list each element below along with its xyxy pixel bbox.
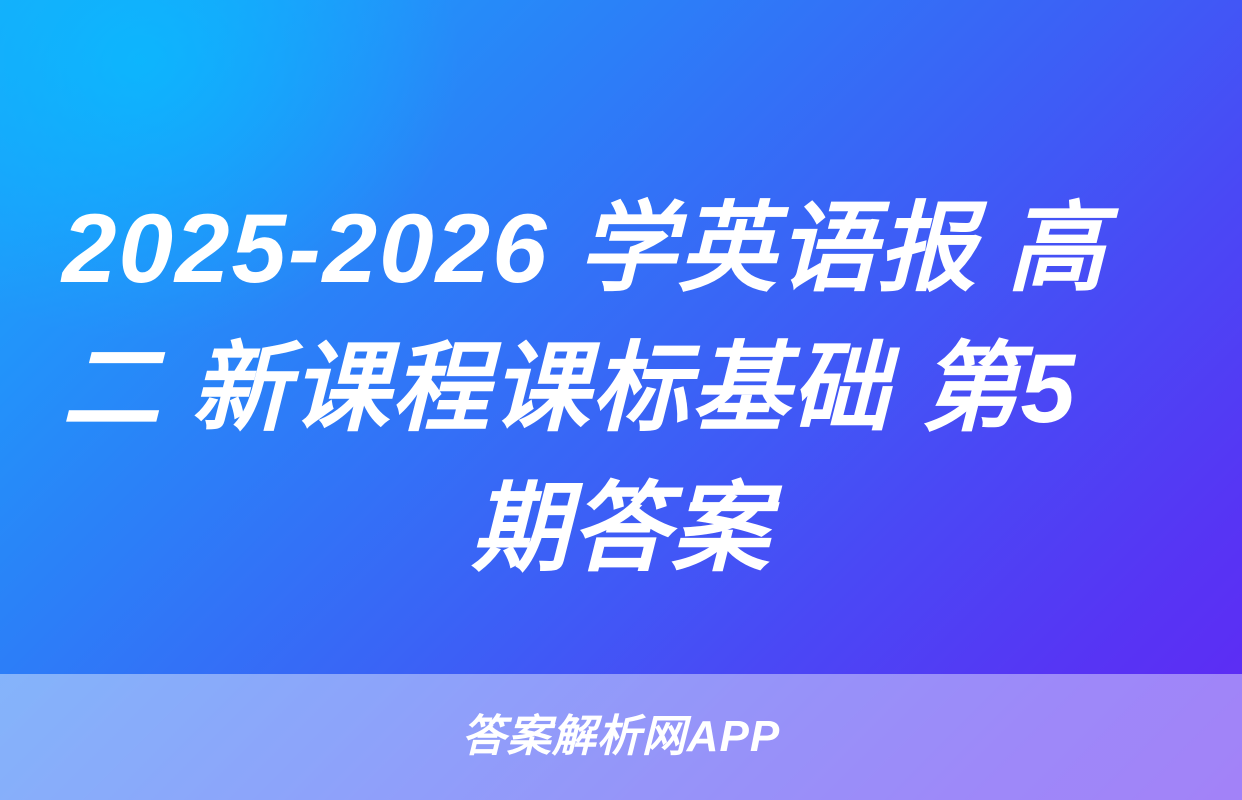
poster-title: 2025-2026 学英语报 高 二 新课程课标基础 第5 期答案 <box>0 178 1242 598</box>
app-watermark-bar: 答案解析网APP <box>0 674 1242 800</box>
app-watermark-label: 答案解析网APP <box>462 715 780 759</box>
title-line-2: 二 新课程课标基础 第5 <box>62 318 1180 458</box>
poster-canvas: 2025-2026 学英语报 高 二 新课程课标基础 第5 期答案 答案解析网A… <box>0 0 1242 800</box>
title-line-1: 2025-2026 学英语报 高 <box>62 178 1180 318</box>
title-line-3: 期答案 <box>62 458 1180 598</box>
